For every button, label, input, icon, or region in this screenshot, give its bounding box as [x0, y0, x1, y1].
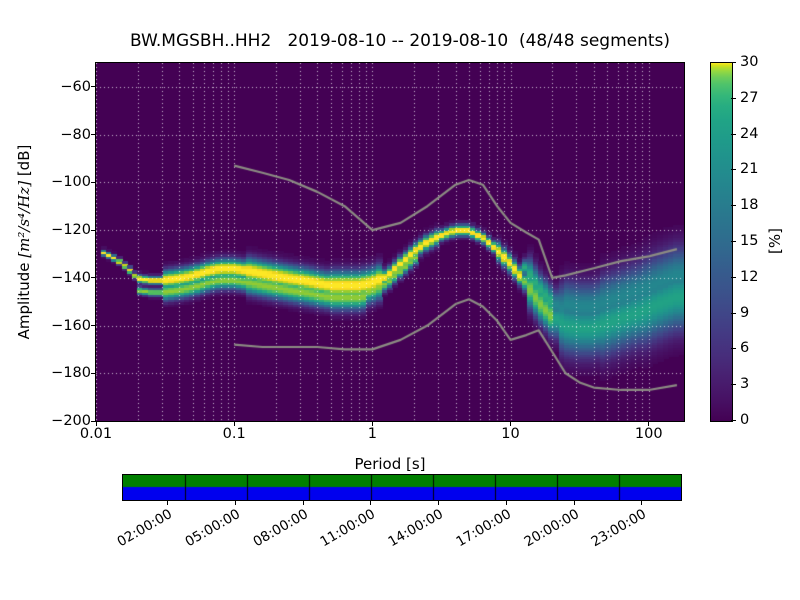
x-tick-label: 0.01 [80, 426, 112, 442]
colorbar-tick-mark [731, 348, 736, 349]
y-tick-label: −180 [51, 365, 91, 381]
x-axis-label: Period [s] [354, 455, 425, 473]
colorbar-tick-label: 6 [740, 340, 749, 356]
y-tick-mark [91, 325, 96, 326]
x-tick-mark [372, 421, 373, 426]
timeline-tick-label: 17:00:00 [453, 506, 514, 550]
colorbar [710, 62, 733, 422]
y-tick-label: −60 [60, 79, 91, 95]
timeline-tick-mark [641, 501, 642, 505]
y-tick-mark [91, 373, 96, 374]
colorbar-tick-mark [731, 277, 736, 278]
x-tick-mark [648, 421, 649, 426]
colorbar-tick-mark [731, 384, 736, 385]
y-tick-mark [91, 230, 96, 231]
colorbar-tick-label: 9 [740, 305, 749, 321]
y-axis-label-prefix: Amplitude [15, 258, 33, 340]
timeline-tick-label: 20:00:00 [521, 506, 582, 550]
timeline-tick-label: 23:00:00 [589, 506, 650, 550]
x-tick-mark [510, 421, 511, 426]
colorbar-tick-label: 12 [740, 269, 758, 285]
data-coverage-timeline [122, 474, 682, 501]
colorbar-tick-mark [731, 205, 736, 206]
colorbar-tick-mark [731, 169, 736, 170]
y-tick-label: −140 [51, 270, 91, 286]
timeline-tick-mark [438, 501, 439, 505]
y-tick-label: −160 [51, 318, 91, 334]
coverage-canvas [123, 475, 681, 500]
timeline-tick-label: 02:00:00 [115, 506, 176, 550]
y-tick-mark [91, 277, 96, 278]
timeline-tick-label: 11:00:00 [318, 506, 379, 550]
y-tick-label: −100 [51, 174, 91, 190]
timeline-tick-label: 08:00:00 [250, 506, 311, 550]
colorbar-tick-mark [731, 313, 736, 314]
x-tick-label: 0.1 [223, 426, 246, 442]
colorbar-tick-label: 18 [740, 197, 758, 213]
timeline-tick-mark [506, 501, 507, 505]
colorbar-tick-label: 21 [740, 161, 758, 177]
timeline-tick-mark [370, 501, 371, 505]
colorbar-tick-label: 3 [740, 376, 749, 392]
ppsd-axes: Amplitude [m²/s⁴/Hz] [dB] Period [s] −60… [95, 62, 685, 422]
y-tick-mark [91, 182, 96, 183]
colorbar-tick-mark [731, 241, 736, 242]
x-tick-mark [96, 421, 97, 426]
y-tick-label: −80 [60, 127, 91, 143]
ppsd-histogram-canvas [96, 63, 684, 421]
timeline-tick-mark [574, 501, 575, 505]
colorbar-tick-label: 27 [740, 90, 758, 106]
colorbar-tick-mark [731, 134, 736, 135]
colorbar-tick-mark [731, 420, 736, 421]
timeline-tick-label: 14:00:00 [386, 506, 447, 550]
y-axis-label-units: [m²/s⁴/Hz] [15, 181, 33, 258]
ppsd-figure: BW.MGSBH..HH2 2019-08-10 -- 2019-08-10 (… [0, 0, 800, 600]
y-tick-mark [91, 86, 96, 87]
x-tick-label: 100 [635, 426, 663, 442]
colorbar-tick-label: 24 [740, 126, 758, 142]
colorbar-tick-label: 0 [740, 412, 749, 428]
x-tick-label: 10 [501, 426, 519, 442]
colorbar-tick-label: 30 [740, 54, 758, 70]
y-tick-label: −120 [51, 222, 91, 238]
y-axis-label-suffix: [dB] [15, 145, 33, 181]
colorbar-label: [%] [766, 228, 784, 254]
colorbar-tick-mark [731, 98, 736, 99]
y-axis-label: Amplitude [m²/s⁴/Hz] [dB] [15, 145, 33, 340]
colorbar-tick-label: 15 [740, 233, 758, 249]
timeline-tick-label: 05:00:00 [182, 506, 243, 550]
timeline-tick-mark [167, 501, 168, 505]
colorbar-tick-mark [731, 62, 736, 63]
x-tick-label: 1 [368, 426, 377, 442]
y-tick-mark [91, 134, 96, 135]
page-title: BW.MGSBH..HH2 2019-08-10 -- 2019-08-10 (… [0, 31, 800, 51]
timeline-tick-mark [235, 501, 236, 505]
x-tick-mark [234, 421, 235, 426]
timeline-tick-mark [303, 501, 304, 505]
